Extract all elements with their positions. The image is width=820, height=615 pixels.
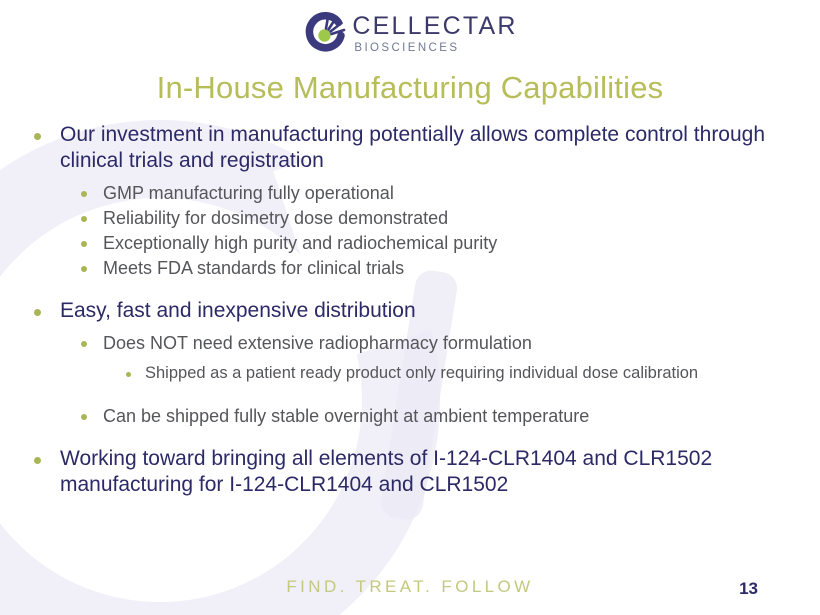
slide-canvas: CELLECTAR BIOSCIENCES In-House Manufactu… [0, 0, 820, 615]
spacer [34, 174, 794, 181]
cellectar-circle-logo-icon [302, 10, 350, 58]
bullet-dot-icon [81, 216, 87, 222]
bullet-level2: Can be shipped fully stable overnight at… [81, 404, 794, 429]
brand-wordmark: CELLECTAR BIOSCIENCES [352, 14, 517, 55]
bullet-dot-icon [34, 309, 41, 316]
spacer [34, 324, 794, 331]
bullet-text: GMP manufacturing fully operational [103, 181, 794, 206]
bullet-text: Shipped as a patient ready product only … [145, 363, 794, 384]
bullet-dot-icon [81, 266, 87, 272]
page-number: 13 [739, 579, 758, 599]
bullet-text: Does NOT need extensive radiopharmacy fo… [103, 331, 794, 356]
slide-body: Our investment in manufacturing potentia… [34, 122, 794, 498]
bullet-level2: GMP manufacturing fully operational [81, 181, 794, 206]
bullet-text: Exceptionally high purity and radiochemi… [103, 231, 794, 256]
bullet-text: Reliability for dosimetry dose demonstra… [103, 206, 794, 231]
bullet-text: Meets FDA standards for clinical trials [103, 256, 794, 281]
bullet-level1: Our investment in manufacturing potentia… [34, 122, 794, 174]
bullet-dot-icon [34, 133, 41, 140]
brand-subtitle: BIOSCIENCES [354, 43, 459, 55]
footer-tagline: FIND. TREAT. FOLLOW [0, 577, 820, 597]
bullet-dot-icon [126, 372, 131, 377]
page-title: In-House Manufacturing Capabilities [0, 70, 820, 106]
bullet-dot-icon [81, 191, 87, 197]
bullet-text: Working toward bringing all elements of … [60, 446, 794, 498]
bullet-text: Easy, fast and inexpensive distribution [60, 298, 794, 324]
spacer [34, 281, 794, 298]
bullet-level2: Meets FDA standards for clinical trials [81, 256, 794, 281]
bullet-dot-icon [34, 457, 41, 464]
bullet-level2: Reliability for dosimetry dose demonstra… [81, 206, 794, 231]
brand-logo: CELLECTAR BIOSCIENCES [0, 6, 820, 62]
spacer [34, 384, 794, 404]
bullet-dot-icon [81, 241, 87, 247]
bullet-dot-icon [81, 414, 87, 420]
bullet-level2: Does NOT need extensive radiopharmacy fo… [81, 331, 794, 356]
bullet-text: Can be shipped fully stable overnight at… [103, 404, 794, 429]
spacer [34, 356, 794, 363]
bullet-level1: Easy, fast and inexpensive distribution [34, 298, 794, 324]
brand-name: CELLECTAR [352, 14, 517, 39]
bullet-text: Our investment in manufacturing potentia… [60, 122, 794, 174]
bullet-level3: Shipped as a patient ready product only … [126, 363, 794, 384]
spacer [34, 429, 794, 446]
bullet-dot-icon [81, 341, 87, 347]
bullet-level2: Exceptionally high purity and radiochemi… [81, 231, 794, 256]
bullet-level1: Working toward bringing all elements of … [34, 446, 794, 498]
